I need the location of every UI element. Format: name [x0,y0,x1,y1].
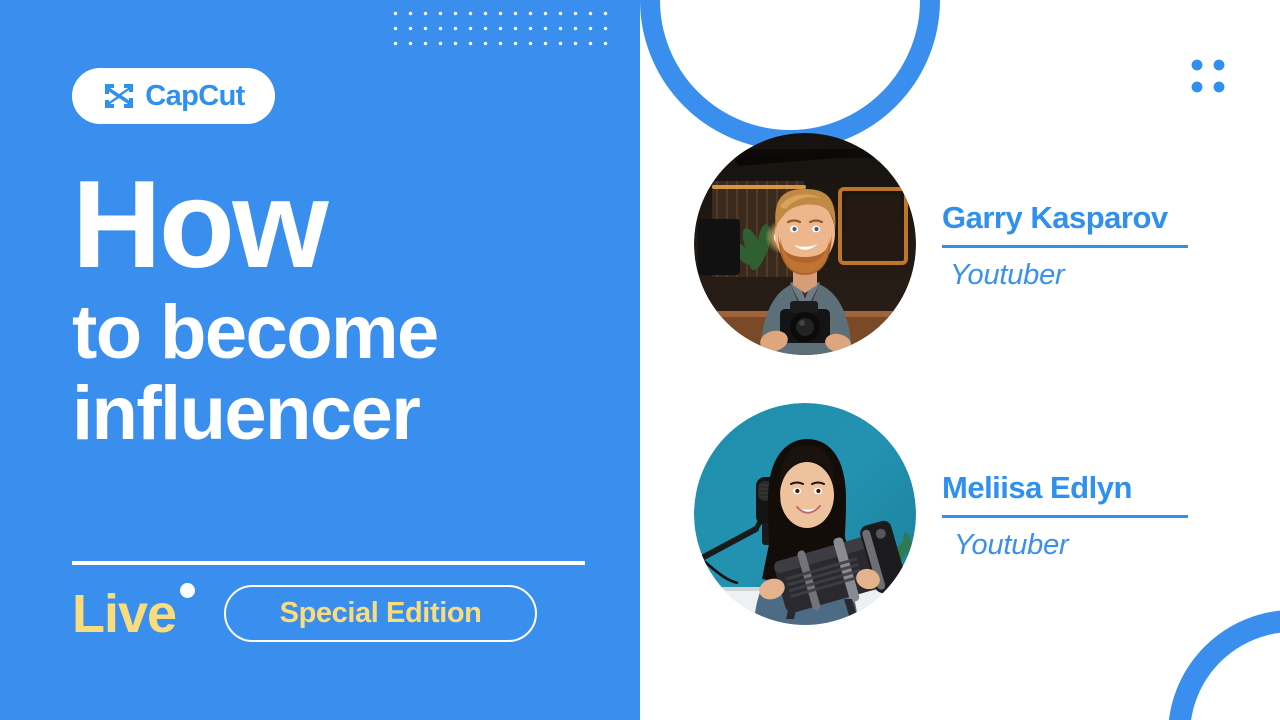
speaker-info: Meliisa Edlyn Youtuber [942,466,1188,563]
dot-grid-blue-icon [1186,54,1232,100]
avatar [694,403,916,625]
live-label: Live [72,584,176,644]
headline-divider [72,561,585,565]
capcut-logo-text: CapCut [145,82,245,111]
portrait-woman-with-studio-light-icon [694,403,916,625]
avatar [694,133,916,355]
speaker-role: Youtuber [950,260,1188,292]
live-indicator-dot-icon [180,583,195,598]
live-badge-row: Live Special Edition [72,585,537,642]
capcut-logo[interactable]: CapCut [72,68,275,124]
headline-line-3: influencer [72,374,612,455]
speaker-card-2[interactable]: Meliisa Edlyn Youtuber [694,403,1188,625]
speaker-name-underline [942,245,1188,248]
special-edition-button[interactable]: Special Edition [224,585,537,642]
dot-grid-white-icon [388,6,616,54]
page-title: How to become influencer [72,168,612,454]
speaker-name-underline [942,515,1188,518]
speaker-role: Youtuber [954,530,1188,562]
quarter-arc-bottom-right-icon [1168,610,1280,720]
speaker-info: Garry Kasparov Youtuber [942,196,1188,293]
speaker-name: Garry Kasparov [942,200,1188,236]
special-edition-label: Special Edition [280,599,482,628]
headline-line-1: How [72,168,612,283]
capcut-hourglass-icon [102,81,136,111]
headline-line-2: to become [72,293,612,374]
portrait-bearded-man-icon [694,133,916,355]
speaker-card-1[interactable]: Garry Kasparov Youtuber [694,133,1188,355]
speaker-name: Meliisa Edlyn [942,470,1188,506]
slide-canvas: CapCut How to become influencer Live Spe… [0,0,1280,720]
live-badge: Live [72,587,176,641]
quarter-arc-top-right-icon [640,0,940,150]
